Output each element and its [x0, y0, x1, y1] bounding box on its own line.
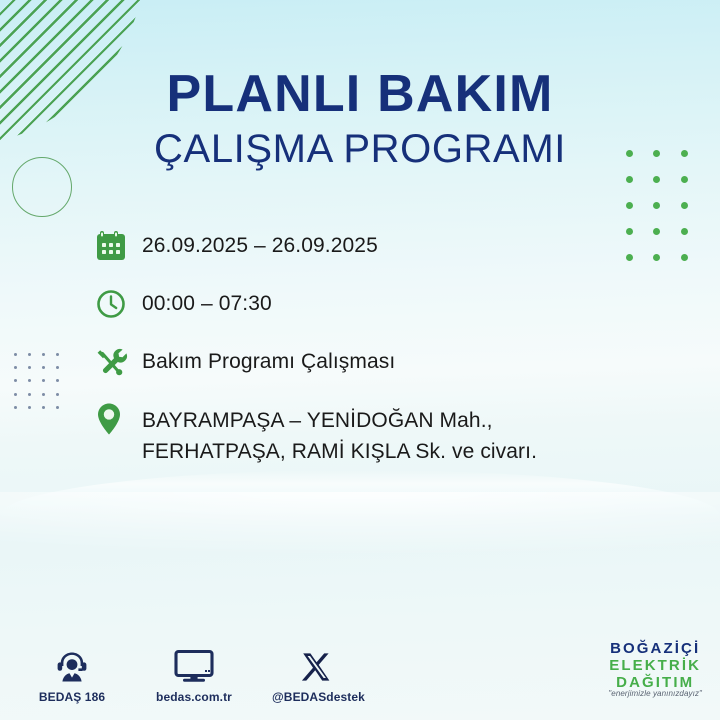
time-range-value: 00:00 – 07:30 — [142, 284, 272, 318]
location-pin-icon — [96, 400, 142, 442]
page-title: PLANLI BAKIM — [0, 68, 720, 120]
planned-maintenance-poster: PLANLI BAKIM ÇALIŞMA PROGRAMI — [0, 0, 720, 720]
monitor-icon — [150, 643, 238, 683]
date-range-value: 26.09.2025 – 26.09.2025 — [142, 226, 378, 260]
x-twitter-icon — [272, 643, 360, 683]
dot-grid-left-decoration — [8, 348, 64, 414]
footer-contacts: BEDAŞ 186 bedas.com.tr @BEDASdestek — [28, 643, 360, 704]
calendar-icon — [96, 226, 142, 266]
detail-row-work-type: Bakım Programı Çalışması — [96, 342, 616, 386]
location-line-1: BAYRAMPAŞA – YENİDOĞAN Mah., — [142, 409, 493, 432]
maintenance-details: 26.09.2025 – 26.09.2025 00:00 – 07:30 — [96, 226, 616, 481]
location-line-2: FERHATPAŞA, RAMİ KIŞLA Sk. ve civarı. — [142, 440, 537, 463]
x-account-contact[interactable]: @BEDASdestek — [272, 643, 360, 704]
detail-row-time: 00:00 – 07:30 — [96, 284, 616, 328]
work-type-value: Bakım Programı Çalışması — [142, 342, 395, 376]
clock-icon — [96, 284, 142, 324]
call-center-contact[interactable]: BEDAŞ 186 — [28, 643, 116, 704]
headset-support-icon — [28, 643, 116, 683]
website-label: bedas.com.tr — [150, 690, 238, 704]
page-subtitle: ÇALIŞMA PROGRAMI — [0, 127, 720, 171]
brand-line-1: BOĞAZİÇİ — [608, 641, 702, 656]
brand-tagline: "enerjimizle yanınızdayız" — [608, 690, 702, 698]
tools-icon — [96, 342, 142, 382]
wave-glow-decoration — [0, 492, 720, 582]
brand-line-2: ELEKTRİK — [608, 658, 702, 673]
detail-row-location: BAYRAMPAŞA – YENİDOĞAN Mah., FERHATPAŞA,… — [96, 400, 616, 467]
brand-line-3: DAĞITIM — [608, 675, 702, 690]
call-center-label: BEDAŞ 186 — [28, 690, 116, 704]
x-account-label: @BEDASdestek — [272, 690, 360, 704]
detail-row-date: 26.09.2025 – 26.09.2025 — [96, 226, 616, 270]
bedas-logo: BOĞAZİÇİ ELEKTRİK DAĞITIM "enerjimizle y… — [608, 641, 702, 698]
website-contact[interactable]: bedas.com.tr — [150, 643, 238, 704]
